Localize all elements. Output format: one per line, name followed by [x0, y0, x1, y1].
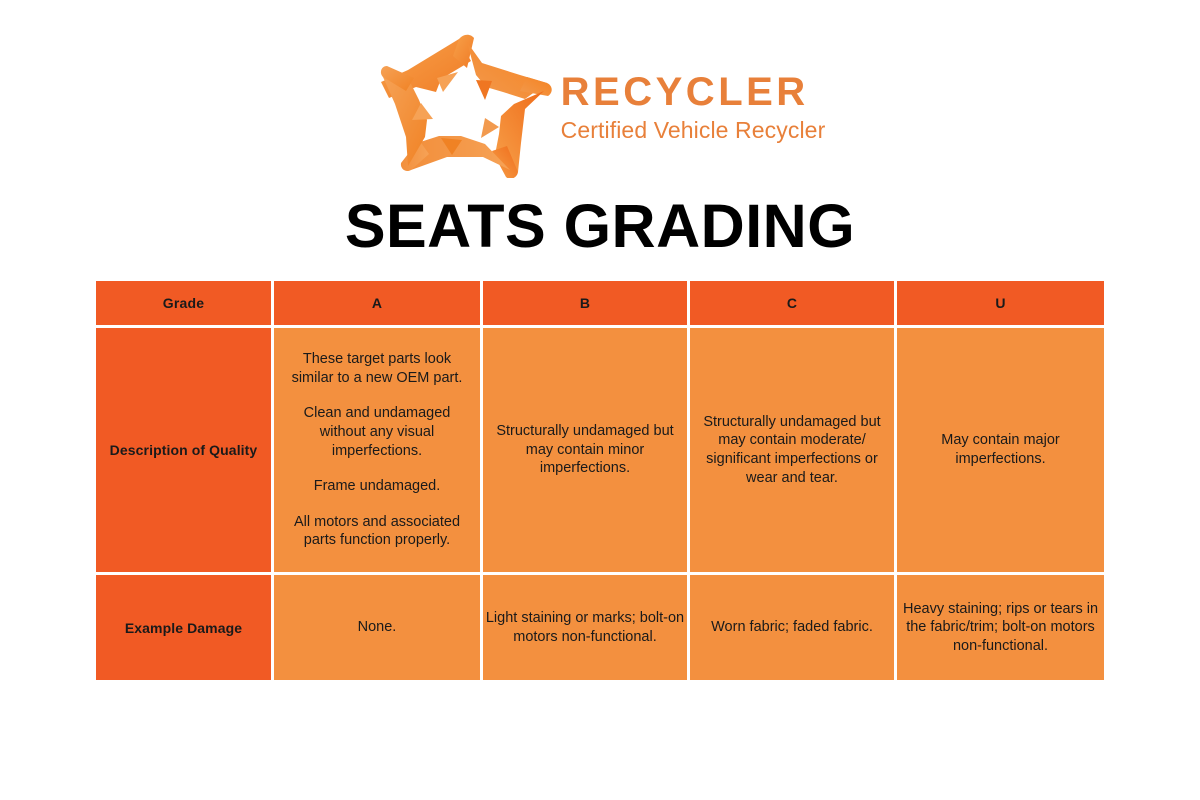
table-row-description-of-quality: Description of Quality These target part…	[96, 328, 1104, 575]
column-header-a: A	[274, 281, 483, 328]
grading-table: Grade A B C U Description of Quality The…	[96, 281, 1104, 680]
cell-damage-u: Heavy staining; rips or tears in the fab…	[897, 575, 1104, 680]
cell-description-c: Structurally undamaged but may contain m…	[690, 328, 897, 575]
grading-table-container: Grade A B C U Description of Quality The…	[96, 281, 1104, 680]
brand-wordmark: RECYCLER Certified Vehicle Recycler	[561, 61, 826, 148]
cell-paragraph: Worn fabric; faded fabric.	[690, 618, 894, 637]
cell-description-u: May contain major imperfections.	[897, 328, 1104, 575]
cell-damage-a: None.	[274, 575, 483, 680]
brand-logo-inner: RECYCLER Certified Vehicle Recycler	[375, 30, 826, 178]
cell-paragraph: Light staining or marks; bolt-on motors …	[483, 609, 687, 646]
brand-logo: RECYCLER Certified Vehicle Recycler	[0, 30, 1200, 178]
cell-paragraph: Frame undamaged.	[288, 477, 466, 496]
brand-name: RECYCLER	[561, 71, 809, 113]
table-header-row: Grade A B C U	[96, 281, 1104, 328]
cell-paragraph: None.	[274, 618, 480, 637]
cell-paragraph: Structurally undamaged but may contain m…	[690, 413, 894, 487]
cell-paragraph: Structurally undamaged but may contain m…	[483, 422, 687, 478]
page-title: SEATS GRADING	[0, 196, 1200, 257]
table-header: Grade A B C U	[96, 281, 1104, 328]
cell-paragraph: These target parts look similar to a new…	[288, 350, 466, 387]
column-header-c: C	[690, 281, 897, 328]
table-body: Description of Quality These target part…	[96, 328, 1104, 680]
row-label-description-of-quality: Description of Quality	[96, 328, 274, 575]
row-label-example-damage: Example Damage	[96, 575, 274, 680]
column-header-u: U	[897, 281, 1104, 328]
column-header-grade: Grade	[96, 281, 274, 328]
cell-paragraph: May contain major imperfections.	[897, 431, 1104, 468]
brand-tagline: Certified Vehicle Recycler	[561, 113, 826, 148]
cell-paragraph: All motors and associated parts function…	[288, 513, 466, 550]
cell-description-b: Structurally undamaged but may contain m…	[483, 328, 690, 575]
cell-description-a: These target parts look similar to a new…	[274, 328, 483, 575]
recycling-star-icon	[375, 30, 553, 178]
cell-damage-c: Worn fabric; faded fabric.	[690, 575, 897, 680]
cell-damage-b: Light staining or marks; bolt-on motors …	[483, 575, 690, 680]
column-header-b: B	[483, 281, 690, 328]
table-row-example-damage: Example Damage None. Light staining or m…	[96, 575, 1104, 680]
cell-paragraph: Clean and undamaged without any visual i…	[288, 404, 466, 460]
cell-paragraph: Heavy staining; rips or tears in the fab…	[897, 600, 1104, 656]
